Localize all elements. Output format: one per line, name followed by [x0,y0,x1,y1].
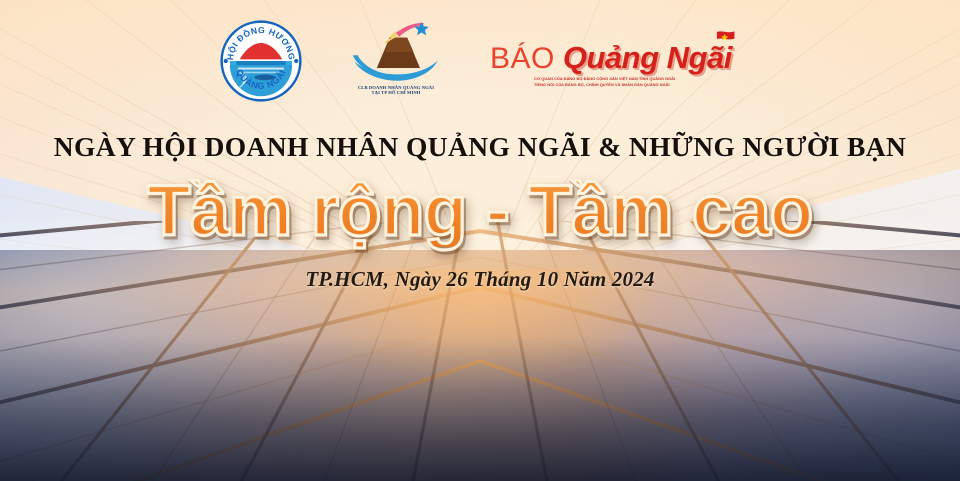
event-headline-text: Tầm rộng - Tầm cao [147,176,813,247]
event-banner: HỘI ĐỒNG HƯƠNG QUẢNG NGÃI [0,0,960,481]
clb-logo-caption: CLB DOANH NHÂN QUẢNG NGÃI TẠI TP HỒ CHÍ … [348,85,444,96]
vietnam-flag-icon [716,30,736,43]
bao-quang-ngai-logo: BÁO Quảng Ngãi CƠ QUAN CỦA ĐẢNG BỘ ĐẢNG … [490,20,740,87]
clb-doanh-nhan-quang-ngai-logo: CLB DOANH NHÂN QUẢNG NGÃI TẠI TP HỒ CHÍ … [348,20,444,104]
masthead-wordmark: BÁO Quảng Ngãi [490,42,740,74]
masthead-subtitle: CƠ QUAN CỦA ĐẢNG BỘ ĐẢNG CỘNG SẢN VIỆT N… [534,76,740,87]
hoi-dong-huong-quang-ngai-logo: HỘI ĐỒNG HƯƠNG QUẢNG NGÃI [220,20,302,102]
event-headline: Tầm rộng - Tầm cao [0,176,960,247]
event-subtitle: NGÀY HỘI DOANH NHÂN QUẢNG NGÃI & NHỮNG N… [0,133,960,161]
mountain-swoosh-icon [348,20,444,84]
clb-caption-line2: TẠI TP HỒ CHÍ MINH [348,90,444,95]
masthead-bao-word: BÁO [490,44,555,74]
event-date-location: TP.HCM, Ngày 26 Tháng 10 Năm 2024 [0,269,960,290]
logo-row: HỘI ĐỒNG HƯƠNG QUẢNG NGÃI [0,20,960,104]
masthead-title-word: Quảng Ngãi [563,42,732,73]
masthead-subtitle-line2: TIẾNG NÓI CỦA ĐẢNG BỘ, CHÍNH QUYỀN VÀ NH… [534,82,740,88]
